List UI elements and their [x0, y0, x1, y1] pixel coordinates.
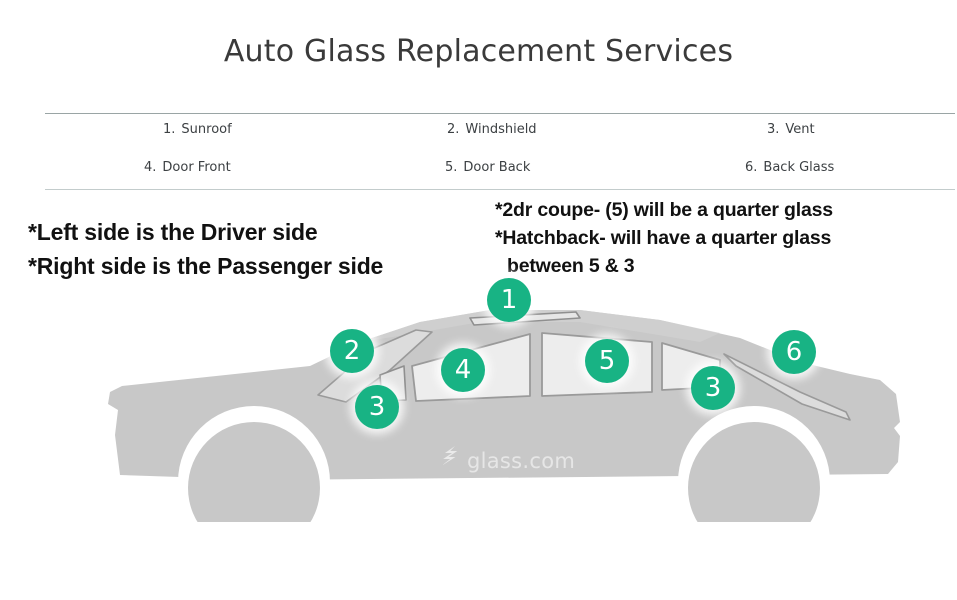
legend-item-windshield: 2.Windshield: [447, 122, 537, 137]
legend-item-label: Sunroof: [181, 122, 231, 137]
note-line: *Hatchback- will have a quarter glass: [495, 224, 833, 252]
legend-item-sunroof: 1.Sunroof: [163, 122, 232, 137]
badge-3-front-vent[interactable]: 3: [355, 385, 399, 429]
legend-item-number: 4.: [144, 160, 156, 175]
legend-item-number: 3.: [767, 122, 779, 137]
legend-item-door-back: 5.Door Back: [445, 160, 530, 175]
badge-2-windshield[interactable]: 2: [330, 329, 374, 373]
legend-item-label: Back Glass: [763, 160, 834, 175]
badge-3-rear-vent[interactable]: 3: [691, 366, 735, 410]
legend-item-label: Vent: [785, 122, 814, 137]
badge-6-back-glass[interactable]: 6: [772, 330, 816, 374]
legend-item-number: 1.: [163, 122, 175, 137]
badge-1-sunroof[interactable]: 1: [487, 278, 531, 322]
ground-mask: [60, 522, 940, 590]
legend-item-label: Windshield: [465, 122, 536, 137]
note-line: *2dr coupe- (5) will be a quarter glass: [495, 196, 833, 224]
legend-table: 1.Sunroof 2.Windshield 3.Vent 4.Door Fro…: [45, 113, 955, 190]
legend-row: 4.Door Front 5.Door Back 6.Back Glass: [45, 160, 955, 198]
legend-row: 1.Sunroof 2.Windshield 3.Vent: [45, 122, 955, 160]
legend-item-vent: 3.Vent: [767, 122, 815, 137]
badge-4-door-front[interactable]: 4: [441, 348, 485, 392]
legend-item-label: Door Front: [162, 160, 230, 175]
badge-5-door-back[interactable]: 5: [585, 339, 629, 383]
legend-item-door-front: 4.Door Front: [144, 160, 231, 175]
legend-item-label: Door Back: [463, 160, 530, 175]
note-body-style-exceptions: *2dr coupe- (5) will be a quarter glass …: [495, 196, 833, 280]
note-line: *Left side is the Driver side: [28, 215, 383, 249]
page-title: Auto Glass Replacement Services: [0, 34, 957, 69]
legend-item-number: 2.: [447, 122, 459, 137]
legend-item-number: 6.: [745, 160, 757, 175]
legend-item-back-glass: 6.Back Glass: [745, 160, 834, 175]
legend-item-number: 5.: [445, 160, 457, 175]
